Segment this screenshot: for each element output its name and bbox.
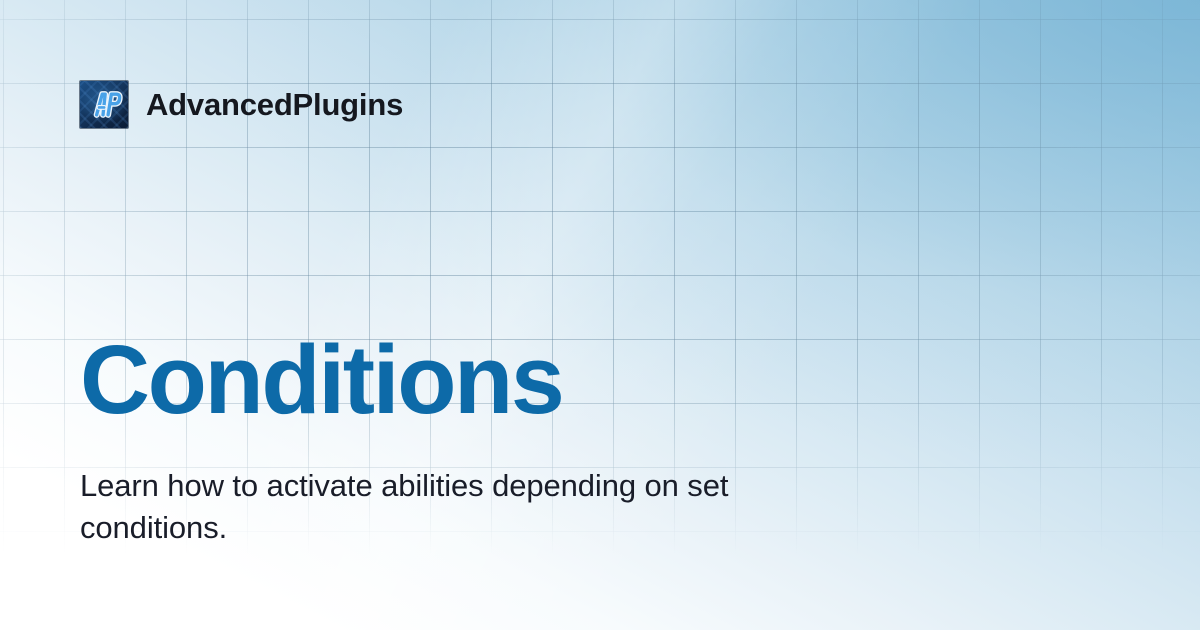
page-subtitle: Learn how to activate abilities dependin…	[80, 428, 850, 549]
page-title: Conditions	[80, 331, 900, 428]
brand-lockup: AdvancedPlugins	[80, 81, 403, 128]
ap-monogram-icon	[80, 81, 128, 128]
brand-name: AdvancedPlugins	[146, 89, 403, 120]
og-card: AdvancedPlugins Conditions Learn how to …	[0, 0, 1200, 630]
headline-block: Conditions Learn how to activate abiliti…	[80, 331, 900, 549]
